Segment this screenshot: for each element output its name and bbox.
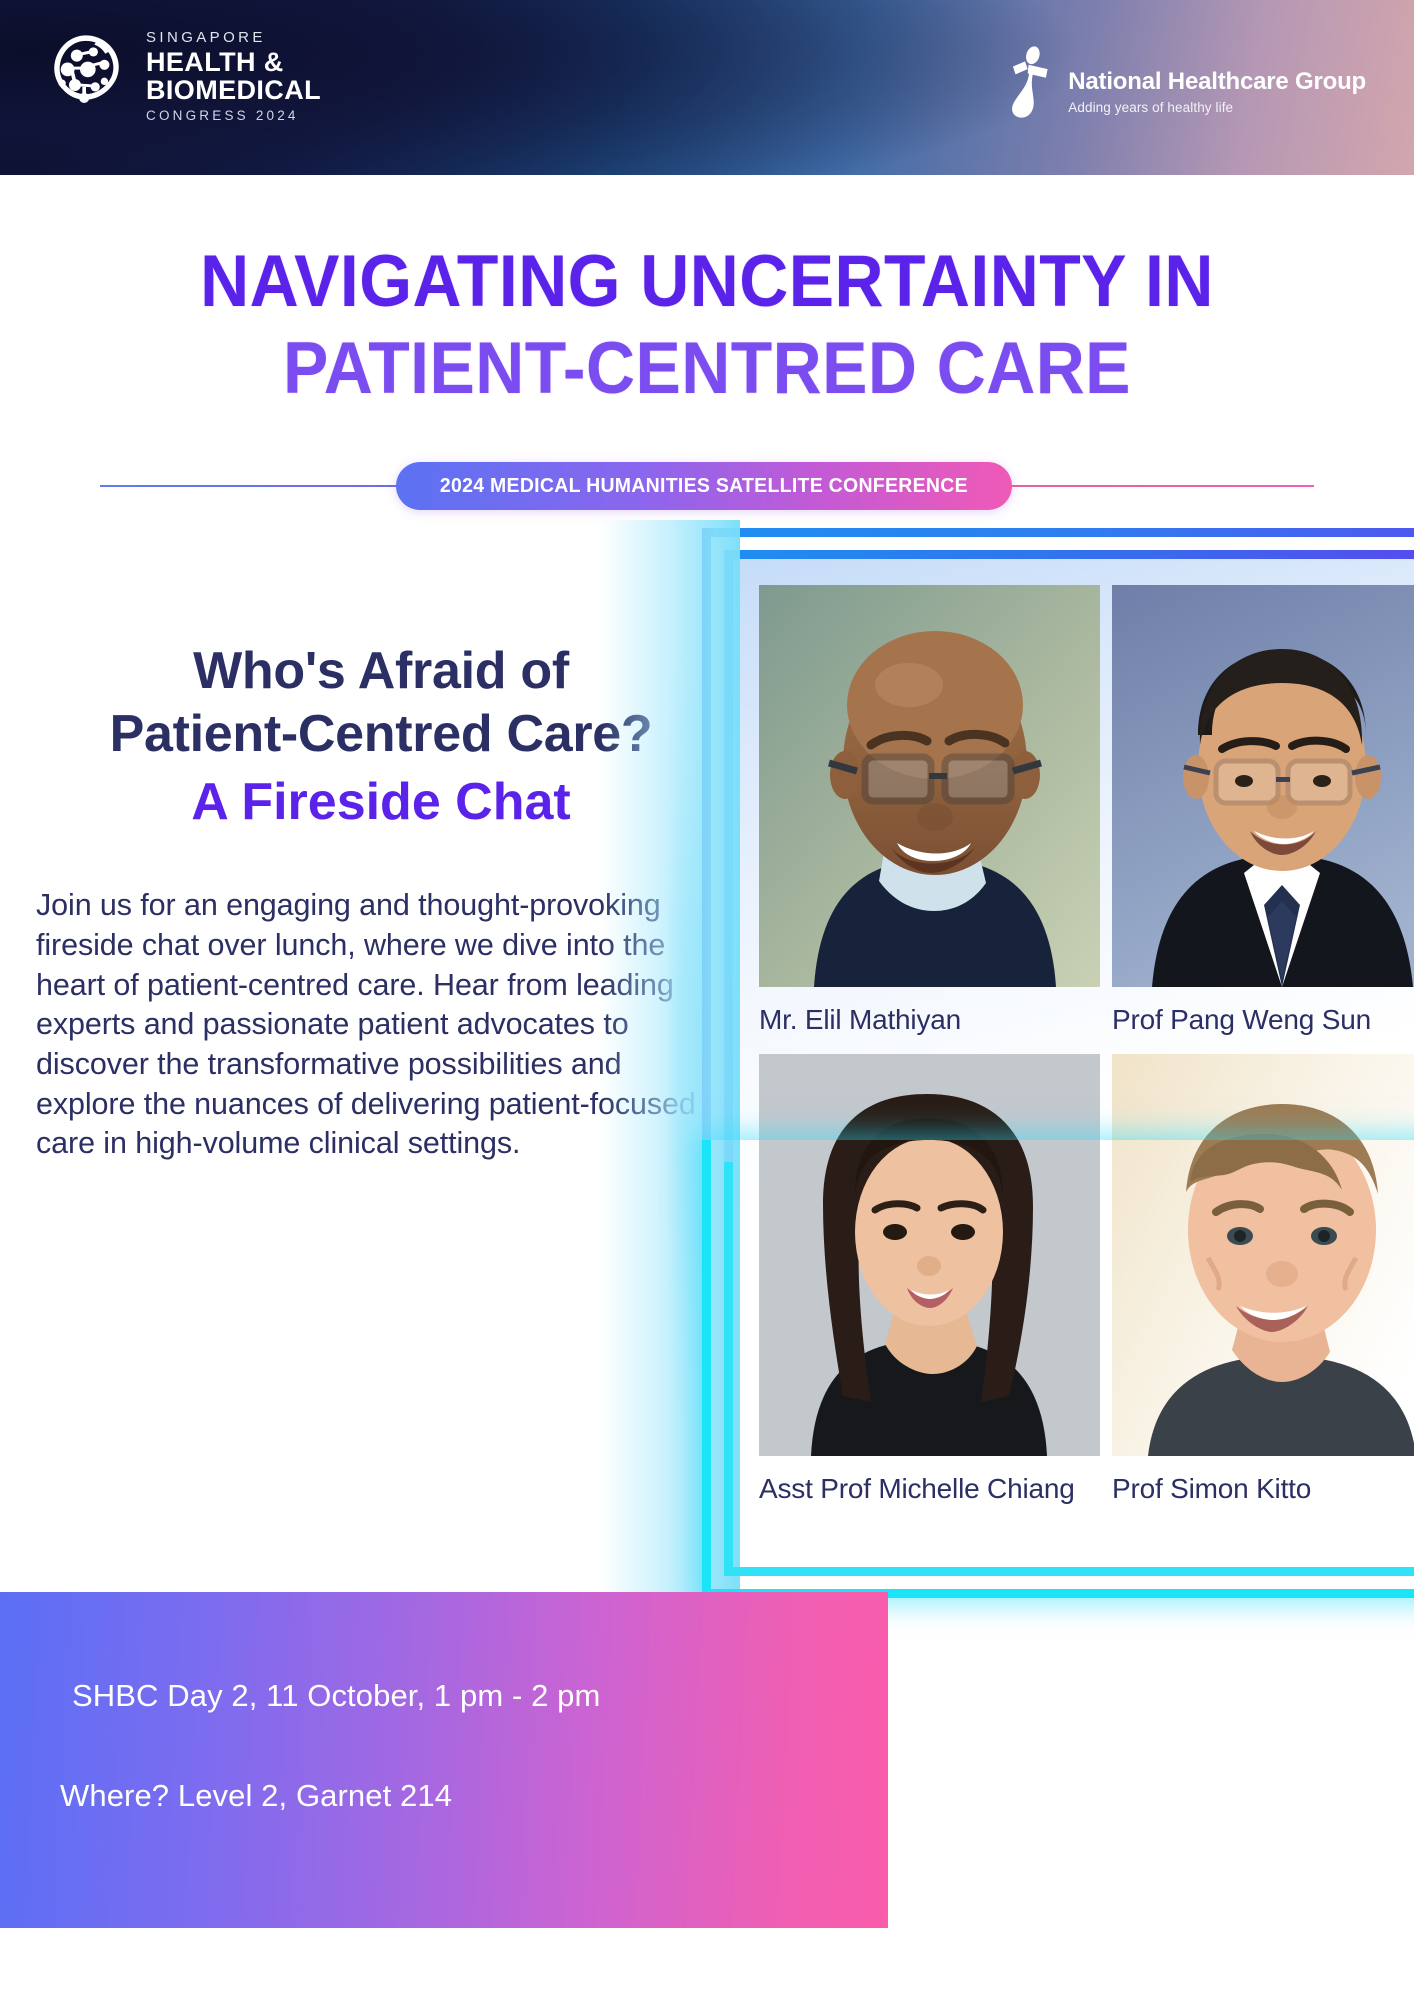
speaker-row-top: Mr. Elil Mathiyan	[759, 585, 1414, 1036]
nhg-logo-name: National Healthcare Group	[1068, 68, 1366, 96]
shbc-logo: SINGAPORE HEALTH & BIOMEDICAL CONGRESS 2…	[40, 26, 321, 123]
session-description: Join us for an engaging and thought-prov…	[36, 886, 726, 1163]
shbc-logo-line1: SINGAPORE	[146, 30, 321, 45]
speaker-panel-inner: Mr. Elil Mathiyan	[724, 550, 1414, 1576]
nhg-figure-icon	[1006, 45, 1058, 121]
session-text-column: Who's Afraid of Patient-Centred Care? A …	[36, 640, 726, 1164]
shbc-molecule-icon	[40, 28, 132, 120]
speaker-photo-4	[1112, 1054, 1414, 1456]
speaker-photo-1	[759, 585, 1100, 987]
title-line-1: NAVIGATING UNCERTAINTY IN	[49, 245, 1364, 318]
speaker-grid: Mr. Elil Mathiyan	[759, 585, 1414, 1505]
speaker-card-1[interactable]: Mr. Elil Mathiyan	[759, 585, 1100, 1036]
badge-rule-left	[100, 485, 400, 487]
header-bar: SINGAPORE HEALTH & BIOMEDICAL CONGRESS 2…	[0, 0, 1414, 175]
event-when: SHBC Day 2, 11 October, 1 pm - 2 pm	[72, 1678, 600, 1714]
shbc-logo-line4: CONGRESS 2024	[146, 109, 321, 123]
title-line-2: PATIENT-CENTRED CARE	[49, 332, 1364, 405]
speaker-name-4: Prof Simon Kitto	[1112, 1472, 1414, 1505]
event-details-block: SHBC Day 2, 11 October, 1 pm - 2 pm Wher…	[0, 1592, 888, 1928]
shbc-logo-line3: BIOMEDICAL	[146, 77, 321, 104]
speaker-card-3[interactable]: Asst Prof Michelle Chiang	[759, 1054, 1100, 1505]
speaker-name-3: Asst Prof Michelle Chiang	[759, 1472, 1100, 1505]
nhg-logo: National Healthcare Group Adding years o…	[1006, 45, 1366, 121]
speaker-photo-2	[1112, 585, 1414, 987]
nhg-logo-tagline: Adding years of healthy life	[1068, 100, 1366, 115]
speaker-name-1: Mr. Elil Mathiyan	[759, 1003, 1100, 1036]
badge-rule-right	[1008, 485, 1314, 487]
shbc-logo-line2: HEALTH &	[146, 49, 321, 76]
poster-title: NAVIGATING UNCERTAINTY IN PATIENT-CENTRE…	[0, 245, 1414, 405]
poster-canvas: SINGAPORE HEALTH & BIOMEDICAL CONGRESS 2…	[0, 0, 1414, 2000]
speaker-row-bottom: Asst Prof Michelle Chiang	[759, 1054, 1414, 1505]
session-heading-line-1: Who's Afraid of	[36, 640, 726, 703]
speaker-panel: Mr. Elil Mathiyan	[702, 528, 1414, 1598]
session-heading-line-2: Patient-Centred Care?	[36, 703, 726, 766]
session-subheading: A Fireside Chat	[36, 771, 726, 834]
session-heading: Who's Afraid of Patient-Centred Care? A …	[36, 640, 726, 834]
event-where: Where? Level 2, Garnet 214	[60, 1778, 452, 1814]
speaker-card-2[interactable]: Prof Pang Weng Sun	[1112, 585, 1414, 1036]
conference-badge-label: 2024 MEDICAL HUMANITIES SATELLITE CONFER…	[440, 474, 968, 498]
speaker-card-4[interactable]: Prof Simon Kitto	[1112, 1054, 1414, 1505]
speaker-name-2: Prof Pang Weng Sun	[1112, 1003, 1414, 1036]
speaker-photo-3	[759, 1054, 1100, 1456]
